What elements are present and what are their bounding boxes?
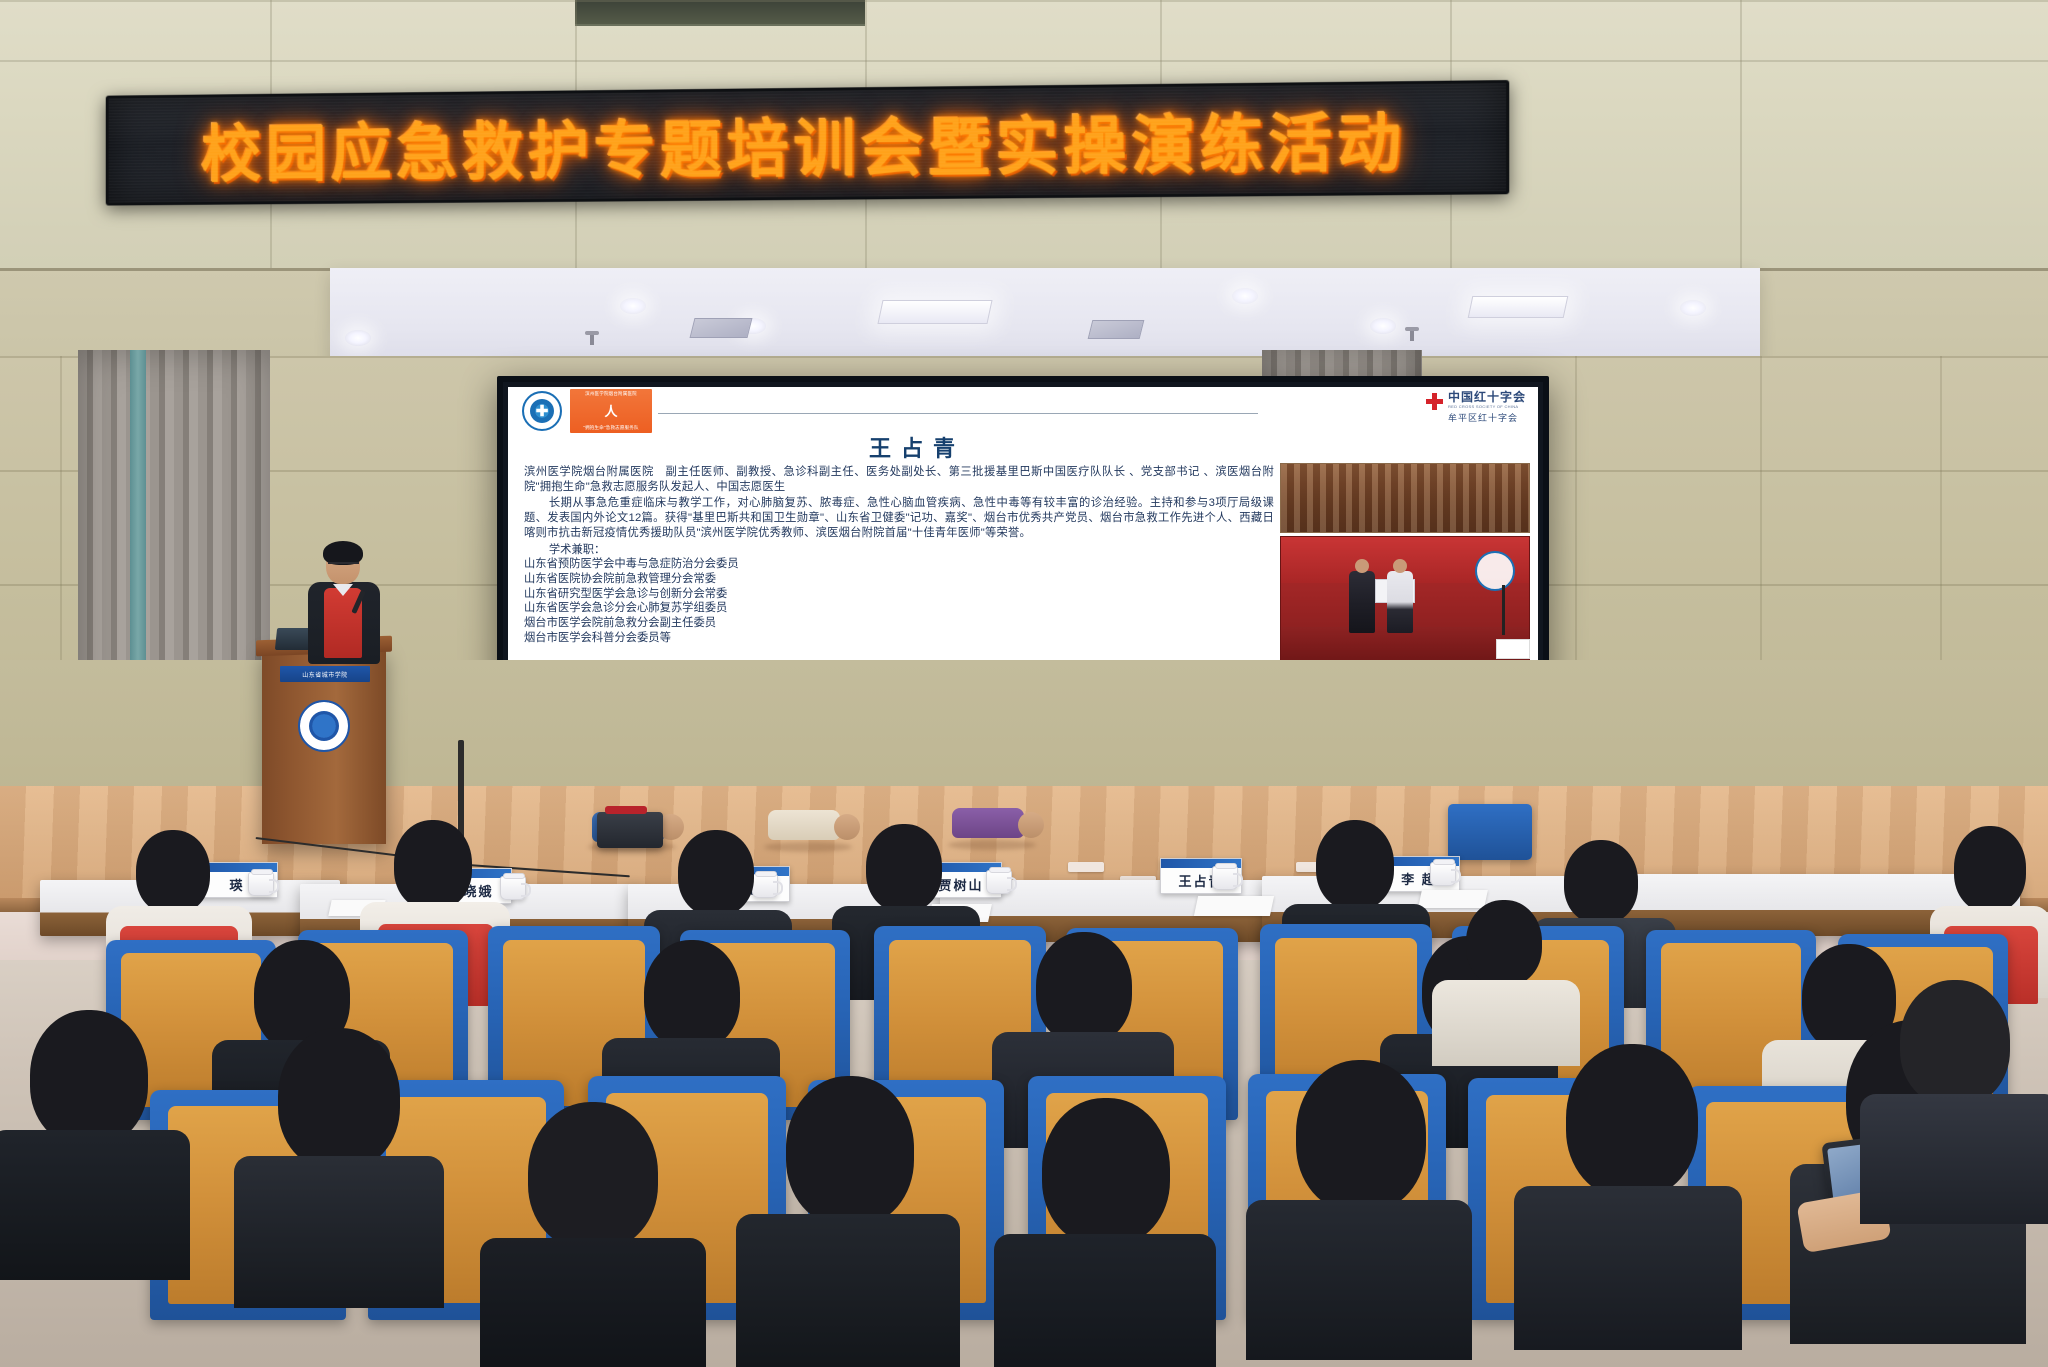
slide-photo-landscape xyxy=(1280,463,1530,533)
ceiling-light xyxy=(1232,288,1258,304)
red-cross-logo: 中国红十字会 RED CROSS SOCIETY OF CHINA 牟平区红十字… xyxy=(1426,391,1526,424)
attendee-with-cap xyxy=(486,1102,700,1367)
teacup xyxy=(1430,862,1456,886)
ceiling-light xyxy=(620,298,646,314)
led-banner: 校园应急救护专题培训会暨实操演练活动 xyxy=(106,80,1509,206)
ceiling-panel xyxy=(1088,320,1145,339)
ceiling-light xyxy=(1680,300,1706,316)
attendee xyxy=(1000,1098,1210,1367)
ceiling-light-fixture xyxy=(877,300,992,324)
slide-header: ✚ 滨州医学院烟台附属医院 人 "拥抱生命"急救志愿服务队 中国红十字会 RED… xyxy=(508,387,1538,433)
red-cross-en-label: RED CROSS SOCIETY OF CHINA xyxy=(1448,404,1526,409)
podium-nameplate: 山东省城市学院 xyxy=(280,666,370,682)
sprinkler-head xyxy=(1410,330,1414,341)
badge-top-text: 滨州医学院烟台附属医院 xyxy=(585,391,637,397)
teacup xyxy=(1212,866,1238,890)
wall-seam xyxy=(0,356,2048,358)
hospital-logo-icon: ✚ xyxy=(522,391,562,431)
attendee-recording xyxy=(1870,980,2048,1210)
slide-page-indicator xyxy=(1496,639,1530,659)
attendee xyxy=(0,1010,190,1260)
presentation-slide: ✚ 滨州医学院烟台附属医院 人 "拥抱生命"急救志愿服务队 中国红十字会 RED… xyxy=(508,387,1538,685)
school-emblem-icon xyxy=(298,700,350,752)
ceiling-panel xyxy=(690,318,753,338)
attendee xyxy=(1430,900,1580,1050)
volunteer-team-badge: 滨州医学院烟台附属医院 人 "拥抱生命"急救志愿服务队 xyxy=(570,389,652,433)
projection-screen: ✚ 滨州医学院烟台附属医院 人 "拥抱生命"急救志愿服务队 中国红十字会 RED… xyxy=(497,376,1549,696)
slide-body: 王占青 滨州医学院烟台附属医院 副主任医师、副教授、急诊科副主任、医务处副处长、… xyxy=(508,433,1538,685)
slide-photo-ceremony xyxy=(1280,536,1530,666)
slide-speaker-name: 王占青 xyxy=(524,431,1530,463)
auditorium-scene: 校园应急救护专题培训会暨实操演练活动 ✚ 滨州医学 xyxy=(0,0,2048,1367)
teacup xyxy=(986,870,1012,894)
glasses-icon xyxy=(328,562,359,569)
red-cross-cn-label: 中国红十字会 xyxy=(1448,391,1526,404)
sprinkler-head xyxy=(590,334,594,345)
ceiling-vent xyxy=(575,0,865,26)
attendee xyxy=(1252,1060,1466,1350)
wall-seam xyxy=(1740,0,1742,268)
ceiling-soffit xyxy=(330,268,1760,368)
document-paper xyxy=(1194,896,1274,916)
slide-photo-column xyxy=(1280,463,1530,666)
red-cross-icon xyxy=(1426,393,1443,410)
attendee xyxy=(742,1076,954,1356)
red-cross-branch-label: 牟平区红十字会 xyxy=(1448,411,1526,424)
speaker-person xyxy=(300,544,386,662)
ceiling-light xyxy=(345,330,371,346)
badge-mark: 人 xyxy=(604,405,617,418)
header-divider xyxy=(658,413,1258,414)
floor-mat xyxy=(1068,862,1104,872)
teacup xyxy=(248,872,274,896)
podium-plate-text: 山东省城市学院 xyxy=(302,670,348,679)
equipment-bag xyxy=(1448,804,1532,860)
podium: 山东省城市学院 xyxy=(262,648,386,844)
photo-emblem-icon xyxy=(1475,551,1515,591)
led-banner-text: 校园应急救护专题培训会暨实操演练活动 xyxy=(201,92,1406,194)
ceiling-light xyxy=(1370,318,1396,334)
ceiling-light-fixture xyxy=(1468,296,1569,318)
attendee xyxy=(1520,1044,1736,1344)
attendee xyxy=(238,1028,438,1288)
